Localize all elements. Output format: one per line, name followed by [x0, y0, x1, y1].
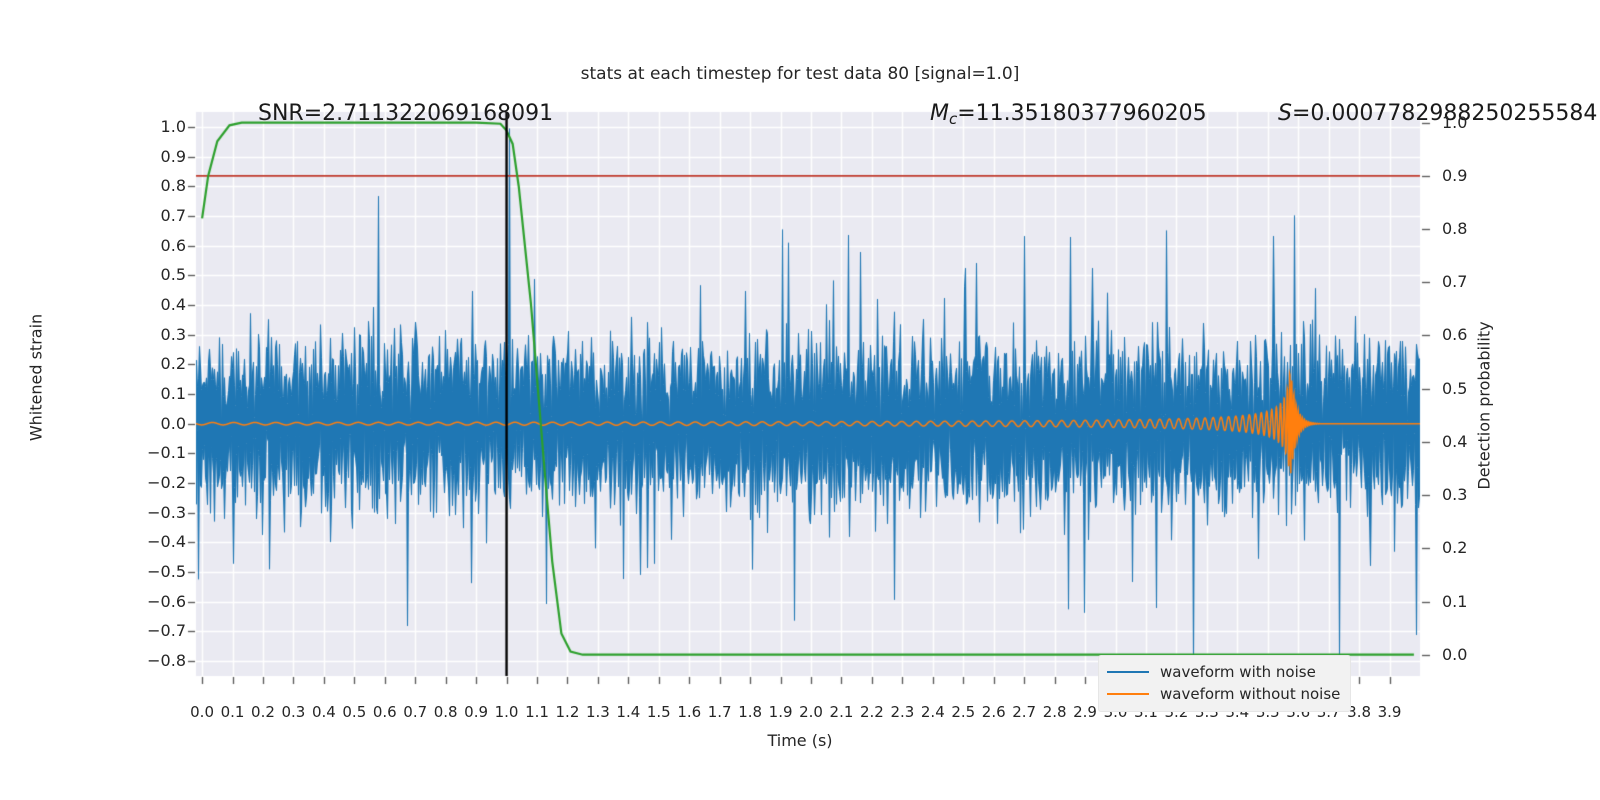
- y-tick-label-right: 1.0: [1442, 113, 1502, 132]
- y-tick-label-right: 0.3: [1442, 485, 1502, 504]
- y-axis-label-left: Whitened strain: [27, 298, 46, 458]
- legend-item-waveform-without-noise: waveform without noise: [1107, 683, 1340, 705]
- y-tick-label-right: 0.1: [1442, 592, 1502, 611]
- y-tick-label-left: 0.9: [130, 147, 186, 166]
- y-tick-label-left: 0.4: [130, 295, 186, 314]
- y-tick-label-left: 0.8: [130, 176, 186, 195]
- y-tick-label-right: 0.6: [1442, 325, 1502, 344]
- x-axis-label: Time (s): [0, 731, 1600, 750]
- annotation-mc-subscript: c: [949, 110, 957, 128]
- legend-item-waveform-with-noise: waveform with noise: [1107, 661, 1340, 683]
- y-tick-label-right: 0.5: [1442, 379, 1502, 398]
- y-tick-label-right: 0.4: [1442, 432, 1502, 451]
- y-tick-label-left: 1.0: [130, 117, 186, 136]
- annotation-chirp-mass: Mc=11.35180377960205: [930, 101, 1207, 128]
- x-tick-label: 3.9: [1370, 703, 1410, 721]
- y-tick-label-left: −0.1: [130, 443, 186, 462]
- y-tick-label-left: −0.6: [130, 592, 186, 611]
- legend-item-label: waveform without noise: [1160, 685, 1340, 703]
- y-tick-label-left: −0.8: [130, 651, 186, 670]
- y-tick-label-right: 0.8: [1442, 219, 1502, 238]
- annotation-significance: S=0.0007782988250255584: [1278, 101, 1597, 126]
- legend: waveform with noise waveform without noi…: [1098, 655, 1351, 712]
- y-tick-label-right: 0.7: [1442, 272, 1502, 291]
- annotation-snr-label: SNR=: [258, 101, 322, 126]
- annotation-snr: SNR=2.711322069168091: [258, 101, 553, 126]
- annotation-mc-symbol: M: [930, 101, 949, 126]
- legend-swatch-line: [1107, 693, 1149, 695]
- y-tick-label-left: 0.1: [130, 384, 186, 403]
- y-tick-label-left: −0.2: [130, 473, 186, 492]
- annotation-s-symbol: S: [1278, 101, 1292, 126]
- y-tick-label-right: 0.0: [1442, 645, 1502, 664]
- annotation-s-equals: =: [1292, 101, 1310, 126]
- y-tick-label-left: 0.3: [130, 325, 186, 344]
- y-tick-label-right: 0.2: [1442, 538, 1502, 557]
- y-tick-label-left: −0.4: [130, 532, 186, 551]
- y-tick-label-left: −0.5: [130, 562, 186, 581]
- legend-item-label: waveform with noise: [1160, 663, 1316, 681]
- chart-title: stats at each timestep for test data 80 …: [0, 64, 1600, 84]
- y-tick-label-left: −0.7: [130, 621, 186, 640]
- y-tick-label-right: 0.9: [1442, 166, 1502, 185]
- figure: stats at each timestep for test data 80 …: [0, 0, 1600, 800]
- annotation-mc-equals: =: [957, 101, 975, 126]
- annotation-mc-value: 11.35180377960205: [976, 101, 1207, 126]
- y-tick-label-left: 0.0: [130, 414, 186, 433]
- legend-swatch-line: [1107, 671, 1149, 673]
- annotation-snr-value: 2.711322069168091: [322, 101, 553, 126]
- y-tick-label-left: −0.3: [130, 503, 186, 522]
- y-tick-label-left: 0.5: [130, 265, 186, 284]
- y-tick-label-left: 0.6: [130, 236, 186, 255]
- y-tick-label-left: 0.2: [130, 354, 186, 373]
- y-tick-label-left: 0.7: [130, 206, 186, 225]
